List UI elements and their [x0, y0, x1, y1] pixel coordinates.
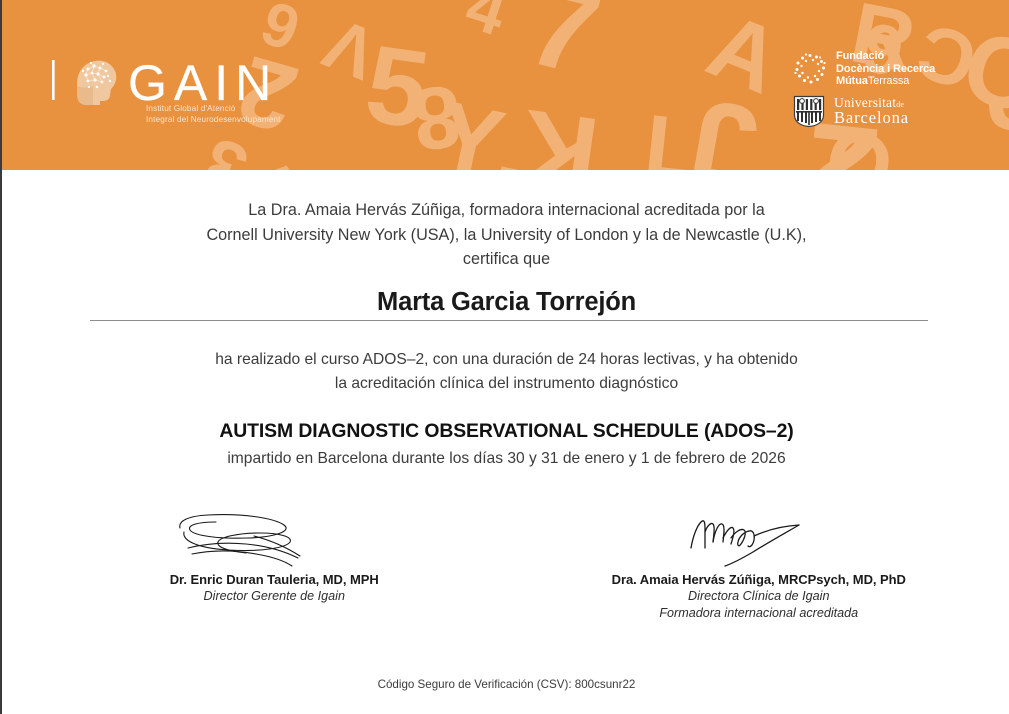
fundacio-mutua: Mútua	[836, 75, 868, 87]
ub-text-block: Universitatde Barcelona	[834, 96, 909, 127]
signature-role-enric: Director Gerente de Igain	[32, 588, 517, 605]
svg-text:4: 4	[458, 0, 516, 50]
name-underline-rule	[90, 320, 928, 321]
partner-logos: Fundació Docència i Recerca MútuaTerrass…	[793, 50, 963, 128]
dotted-ring-icon	[793, 52, 827, 86]
svg-text:GAIN: GAIN	[128, 55, 278, 108]
handwritten-signature-enric-icon	[164, 508, 384, 570]
signature-section: Dr. Enric Duran Tauleria, MD, MPH Direct…	[2, 508, 1009, 622]
svg-text:7: 7	[516, 0, 613, 101]
igain-logo: GAIN Institut Global d'Atenció Integral …	[50, 48, 350, 130]
fundacio-text-block: Fundació Docència i Recerca MútuaTerrass…	[836, 50, 935, 88]
recipient-name: Marta Garcia Torrejón	[2, 288, 1009, 317]
course-title: AUTISM DIAGNOSTIC OBSERVATIONAL SCHEDULE…	[2, 420, 1009, 443]
signature-mark-amaia	[517, 508, 1002, 570]
partner-fundacio: Fundació Docència i Recerca MútuaTerrass…	[793, 50, 963, 88]
course-detail: impartido en Barcelona durante los días …	[2, 450, 1009, 468]
igain-tagline: Institut Global d'Atenció Integral del N…	[146, 104, 281, 125]
signature-name-enric: Dr. Enric Duran Tauleria, MD, MPH	[32, 572, 517, 587]
ub-line2: Barcelona	[834, 110, 909, 127]
ub-line1: Universitatde	[834, 96, 909, 110]
signature-block-director: Dr. Enric Duran Tauleria, MD, MPH Direct…	[2, 508, 517, 622]
fundacio-line1: Fundació	[836, 50, 935, 63]
signature-role-amaia: Directora Clínica de Igain Formadora int…	[517, 588, 1002, 622]
fundacio-line3: MútuaTerrassa	[836, 75, 935, 88]
intro-paragraph: La Dra. Amaia Hervás Zúñiga, formadora i…	[2, 198, 1009, 272]
achievement-paragraph: ha realizado el curso ADOS–2, con una du…	[2, 348, 1009, 396]
partner-universitat-barcelona: Universitatde Barcelona	[793, 95, 963, 128]
header-band: 2 5 8 7 W 3 K A J R 2 Q C Y 1 L M O V 4	[2, 0, 1009, 170]
csv-verification-code: Código Seguro de Verificación (CSV): 800…	[2, 678, 1009, 691]
certificate-document: 2 5 8 7 W 3 K A J R 2 Q C Y 1 L M O V 4	[0, 0, 1009, 714]
fundacio-terrassa: Terrassa	[868, 75, 909, 87]
igain-wordmark-svg: GAIN	[50, 54, 350, 108]
signature-mark-enric	[32, 508, 517, 570]
barcelona-shield-icon	[793, 95, 825, 128]
signature-block-clinical-director: Dra. Amaia Hervás Zúñiga, MRCPsych, MD, …	[517, 508, 1009, 622]
handwritten-signature-amaia-icon	[649, 508, 869, 570]
signature-name-amaia: Dra. Amaia Hervás Zúñiga, MRCPsych, MD, …	[517, 572, 1002, 587]
fundacio-line2: Docència i Recerca	[836, 63, 935, 76]
